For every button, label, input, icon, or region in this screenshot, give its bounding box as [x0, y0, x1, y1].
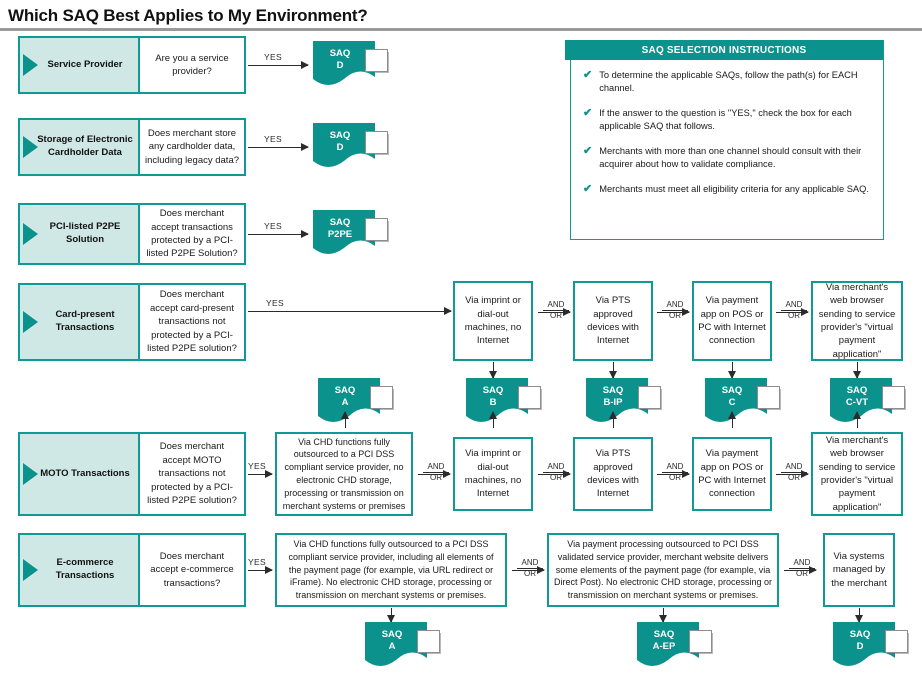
channel-label: Card-present Transactions — [20, 285, 140, 359]
channel-question: Does merchant accept card-present transa… — [140, 285, 244, 359]
moto-box-1[interactable]: Via CHD functions fully outsourced to a … — [275, 432, 413, 516]
ecommerce-box-1[interactable]: Via CHD functions fully outsourced to a … — [275, 533, 507, 607]
channel-label: E-commerce Transactions — [20, 535, 140, 605]
saq-banner-a-ep[interactable]: SAQA-EP — [637, 622, 715, 668]
connector-down-saq-c — [732, 362, 733, 378]
instruction-item: ✔ If the answer to the question is "YES,… — [583, 107, 873, 134]
saq-banner-service-provider[interactable]: SAQD — [313, 41, 391, 87]
connector-up-saq-c — [732, 412, 733, 428]
channel-p2pe[interactable]: PCI-listed P2PE Solution Does merchant a… — [18, 203, 246, 265]
and-label: AND — [428, 463, 445, 471]
arrow-marker-icon — [23, 223, 38, 245]
saq-banner-storage[interactable]: SAQD — [313, 123, 391, 169]
saq-checkbox[interactable] — [882, 386, 905, 409]
instruction-text: To determine the applicable SAQs, follow… — [599, 69, 873, 96]
channel-card-present[interactable]: Card-present Transactions Does merchant … — [18, 283, 246, 361]
connector-yes-card-present: YES — [248, 311, 451, 312]
saq-checkbox[interactable] — [365, 49, 388, 72]
saq-checkbox[interactable] — [757, 386, 780, 409]
or-label: OR — [788, 474, 800, 482]
connector-ec-1-2 — [512, 570, 544, 571]
check-icon: ✔ — [583, 145, 592, 172]
instruction-item: ✔ Merchants with more than one channel s… — [583, 145, 873, 172]
or-label: OR — [550, 312, 562, 320]
channel-question: Does merchant accept MOTO transactions n… — [140, 434, 244, 514]
check-icon: ✔ — [583, 69, 592, 96]
channel-label: MOTO Transactions — [20, 434, 140, 514]
channel-storage[interactable]: Storage of Electronic Cardholder Data Do… — [18, 118, 246, 176]
and-label: AND — [667, 463, 684, 471]
saq-checkbox[interactable] — [365, 218, 388, 241]
channel-moto[interactable]: MOTO Transactions Does merchant accept M… — [18, 432, 246, 516]
or-label: OR — [550, 474, 562, 482]
saq-checkbox[interactable] — [417, 630, 440, 653]
and-label: AND — [667, 301, 684, 309]
channel-service-provider[interactable]: Service Provider Are you a service provi… — [18, 36, 246, 94]
saq-banner-p2pe[interactable]: SAQP2PE — [313, 210, 391, 256]
connector-cp-2-3 — [657, 312, 689, 313]
channel-name: MOTO Transactions — [40, 468, 130, 481]
connector-moto-1-2 — [418, 474, 450, 475]
channel-question: Does merchant store any cardholder data,… — [140, 120, 244, 174]
saq-banner-b-ip[interactable]: SAQB-IP — [586, 378, 664, 424]
channel-name: PCI-listed P2PE Solution — [36, 221, 134, 247]
and-label: AND — [548, 463, 565, 471]
channel-name: Storage of Electronic Cardholder Data — [36, 134, 134, 160]
card-present-box-1[interactable]: Via imprint or dial-out machines, no Int… — [453, 281, 533, 361]
moto-box-2[interactable]: Via imprint or dial-out machines, no Int… — [453, 437, 533, 511]
connector-moto-2-3 — [538, 474, 570, 475]
and-label: AND — [786, 301, 803, 309]
connector-down-saq-cvt — [857, 362, 858, 378]
instruction-item: ✔ To determine the applicable SAQs, foll… — [583, 69, 873, 96]
saq-banner-a-bottom[interactable]: SAQA — [365, 622, 443, 668]
channel-label: Storage of Electronic Cardholder Data — [20, 120, 140, 174]
saq-banner-a-middle[interactable]: SAQA — [318, 378, 396, 424]
moto-box-4[interactable]: Via payment app on POS or PC with Intern… — [692, 437, 772, 511]
channel-name: Card-present Transactions — [36, 309, 134, 335]
channel-label: Service Provider — [20, 38, 140, 92]
saq-banner-b[interactable]: SAQB — [466, 378, 544, 424]
title-divider — [0, 28, 922, 31]
instruction-item: ✔ Merchants must meet all eligibility cr… — [583, 183, 873, 196]
connector-up-saq-bip — [613, 412, 614, 428]
yes-label: YES — [248, 461, 266, 471]
connector-down-saq-aep — [663, 608, 664, 622]
saq-checkbox[interactable] — [689, 630, 712, 653]
connector-moto-4-5 — [776, 474, 808, 475]
arrow-marker-icon — [23, 463, 38, 485]
saq-banner-c[interactable]: SAQC — [705, 378, 783, 424]
connector-yes-service-provider: YES — [248, 65, 308, 66]
connector-ec-2-3 — [784, 570, 816, 571]
card-present-box-2[interactable]: Via PTS approved devices with Internet — [573, 281, 653, 361]
connector-cp-3-4 — [776, 312, 808, 313]
connector-yes-storage: YES — [248, 147, 308, 148]
card-present-box-3[interactable]: Via payment app on POS or PC with Intern… — [692, 281, 772, 361]
yes-label: YES — [264, 134, 282, 144]
connector-down-saq-a-bottom — [391, 608, 392, 622]
channel-ecommerce[interactable]: E-commerce Transactions Does merchant ac… — [18, 533, 246, 607]
instruction-text: If the answer to the question is "YES," … — [599, 107, 873, 134]
instructions-header: SAQ SELECTION INSTRUCTIONS — [565, 40, 883, 60]
saq-checkbox[interactable] — [638, 386, 661, 409]
arrow-marker-icon — [23, 311, 38, 333]
yes-label: YES — [248, 557, 266, 567]
or-label: OR — [669, 474, 681, 482]
channel-question: Does merchant accept e-commerce transact… — [140, 535, 244, 605]
and-label: AND — [794, 559, 811, 567]
ecommerce-box-2[interactable]: Via payment processing outsourced to PCI… — [547, 533, 779, 607]
moto-box-5[interactable]: Via merchant's web browser sending to se… — [811, 432, 903, 516]
connector-up-saq-cvt — [857, 412, 858, 428]
instructions-panel: SAQ SELECTION INSTRUCTIONS ✔ To determin… — [570, 40, 884, 240]
channel-label: PCI-listed P2PE Solution — [20, 205, 140, 263]
connector-yes-ecommerce: YES — [248, 570, 272, 571]
arrow-marker-icon — [23, 559, 38, 581]
or-label: OR — [788, 312, 800, 320]
page-title: Which SAQ Best Applies to My Environment… — [8, 6, 368, 26]
channel-question: Are you a service provider? — [140, 38, 244, 92]
and-label: AND — [548, 301, 565, 309]
saq-flowchart-page: Which SAQ Best Applies to My Environment… — [0, 0, 922, 684]
saq-checkbox[interactable] — [518, 386, 541, 409]
or-label: OR — [524, 570, 536, 578]
saq-banner-d-bottom[interactable]: SAQD — [833, 622, 911, 668]
connector-yes-moto: YES — [248, 474, 272, 475]
yes-label: YES — [266, 298, 284, 308]
saq-checkbox[interactable] — [370, 386, 393, 409]
connector-up-saq-a — [345, 412, 346, 428]
card-present-box-4[interactable]: Via merchant's web browser sending to se… — [811, 281, 903, 361]
instructions-list: ✔ To determine the applicable SAQs, foll… — [583, 69, 873, 207]
connector-cp-1-2 — [538, 312, 570, 313]
yes-label: YES — [264, 52, 282, 62]
ecommerce-box-3[interactable]: Via systems managed by the merchant — [823, 533, 895, 607]
saq-banner-c-vt[interactable]: SAQC-VT — [830, 378, 908, 424]
connector-up-saq-b — [493, 412, 494, 428]
check-icon: ✔ — [583, 183, 592, 196]
or-label: OR — [796, 570, 808, 578]
arrow-marker-icon — [23, 136, 38, 158]
connector-yes-p2pe: YES — [248, 234, 308, 235]
and-label: AND — [522, 559, 539, 567]
channel-name: Service Provider — [48, 59, 123, 72]
connector-down-saq-bip — [613, 362, 614, 378]
connector-moto-3-4 — [657, 474, 689, 475]
saq-checkbox[interactable] — [365, 131, 388, 154]
channel-question: Does merchant accept transactions protec… — [140, 205, 244, 263]
yes-label: YES — [264, 221, 282, 231]
instruction-text: Merchants must meet all eligibility crit… — [599, 183, 869, 196]
connector-down-saq-b — [493, 362, 494, 378]
channel-name: E-commerce Transactions — [36, 557, 134, 583]
moto-box-3[interactable]: Via PTS approved devices with Internet — [573, 437, 653, 511]
arrow-marker-icon — [23, 54, 38, 76]
check-icon: ✔ — [583, 107, 592, 134]
or-label: OR — [430, 474, 442, 482]
or-label: OR — [669, 312, 681, 320]
and-label: AND — [786, 463, 803, 471]
instruction-text: Merchants with more than one channel sho… — [599, 145, 873, 172]
connector-down-saq-d-bottom — [859, 608, 860, 622]
saq-checkbox[interactable] — [885, 630, 908, 653]
